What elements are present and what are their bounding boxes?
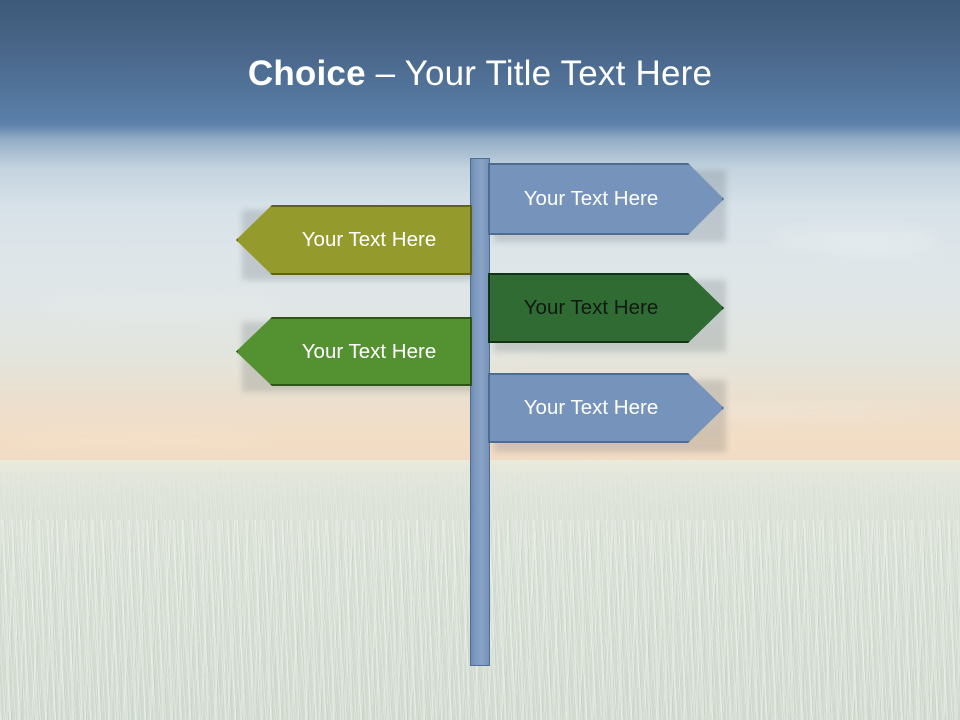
sign-label: Your Text Here <box>266 340 472 364</box>
page-title: Choice – Your Title Text Here <box>0 52 960 96</box>
page-title-emphasis: Choice <box>248 54 366 93</box>
sign-label: Your Text Here <box>488 296 694 320</box>
cloud-wisp <box>40 300 280 313</box>
sign-right-3[interactable]: Your Text Here <box>488 373 724 443</box>
sign-left-2[interactable]: Your Text Here <box>236 317 472 386</box>
sign-label: Your Text Here <box>266 228 472 252</box>
sign-label: Your Text Here <box>488 396 694 420</box>
cloud-wisp <box>820 246 940 256</box>
cloud-wisp <box>0 430 280 442</box>
presentation-slide: Choice – Your Title Text Here Your Text … <box>0 0 960 720</box>
signpost-pole <box>470 158 490 666</box>
page-title-rest: – Your Title Text Here <box>366 54 712 93</box>
sign-right-2[interactable]: Your Text Here <box>488 273 724 343</box>
cloud-wisp <box>770 230 940 246</box>
sign-right-1[interactable]: Your Text Here <box>488 163 724 235</box>
sign-label: Your Text Here <box>488 187 694 211</box>
sign-left-1[interactable]: Your Text Here <box>236 205 472 275</box>
